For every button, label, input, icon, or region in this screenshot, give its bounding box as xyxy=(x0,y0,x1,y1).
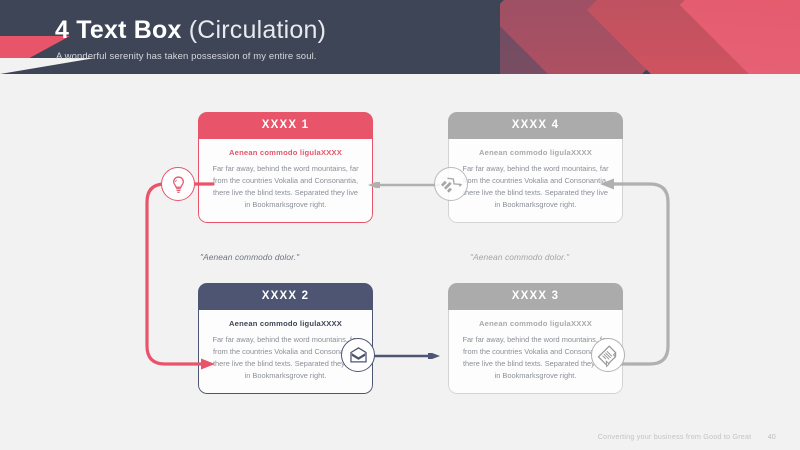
text-box-2-subtitle: Aenean commodo ligulaXXXX xyxy=(212,319,359,328)
arrow-box4-to-box1 xyxy=(368,182,440,188)
text-box-4-body: Far far away, behind the word mountains,… xyxy=(462,163,609,211)
footer-text: Converting your business from Good to Gr… xyxy=(598,432,752,441)
text-box-1-subtitle: Aenean commodo ligulaXXXX xyxy=(212,148,359,157)
page-title-bold: 4 Text Box xyxy=(55,16,182,44)
text-box-1[interactable]: XXXX 1 Aenean commodo ligulaXXXX Far far… xyxy=(198,112,373,223)
text-box-3-subtitle: Aenean commodo ligulaXXXX xyxy=(462,319,609,328)
text-box-1-body: Far far away, behind the word mountains,… xyxy=(212,163,359,211)
text-box-2[interactable]: XXXX 2 Aenean commodo ligulaXXXX Far far… xyxy=(198,283,373,394)
lightbulb-icon-badge xyxy=(161,167,195,201)
slide-footer: Converting your business from Good to Gr… xyxy=(0,432,800,441)
text-box-4-subtitle: Aenean commodo ligulaXXXX xyxy=(462,148,609,157)
text-box-1-caption: XXXX 1 xyxy=(198,112,373,139)
text-box-4-quote: "Aenean commodo dolor." xyxy=(470,252,569,262)
text-box-2-caption: XXXX 2 xyxy=(198,283,373,310)
arrow-box2-to-box3 xyxy=(368,353,440,359)
page-title: 4 Text Box (Circulation) xyxy=(55,16,326,45)
arrow-box1-to-box2 xyxy=(131,170,221,378)
page-subtitle: A wonderful serenity has taken possessio… xyxy=(56,51,317,62)
growth-chart-icon xyxy=(438,171,465,198)
page-number: 40 xyxy=(768,432,776,441)
text-box-4-caption: XXXX 4 xyxy=(448,112,623,139)
diagram-canvas: XXXX 1 Aenean commodo ligulaXXXX Far far… xyxy=(0,74,800,450)
lightbulb-icon xyxy=(169,175,188,194)
header-geometric-decoration xyxy=(500,0,800,74)
text-box-2-body: Far far away, behind the word mountains,… xyxy=(212,334,359,382)
envelope-icon xyxy=(349,346,368,365)
envelope-icon-badge xyxy=(341,338,375,372)
slide-header: 4 Text Box (Circulation) A wonderful ser… xyxy=(0,0,800,74)
document-icon xyxy=(595,342,622,369)
text-box-3-body: Far far away, behind the word mountains,… xyxy=(462,334,609,382)
page-title-light: (Circulation) xyxy=(189,16,326,44)
